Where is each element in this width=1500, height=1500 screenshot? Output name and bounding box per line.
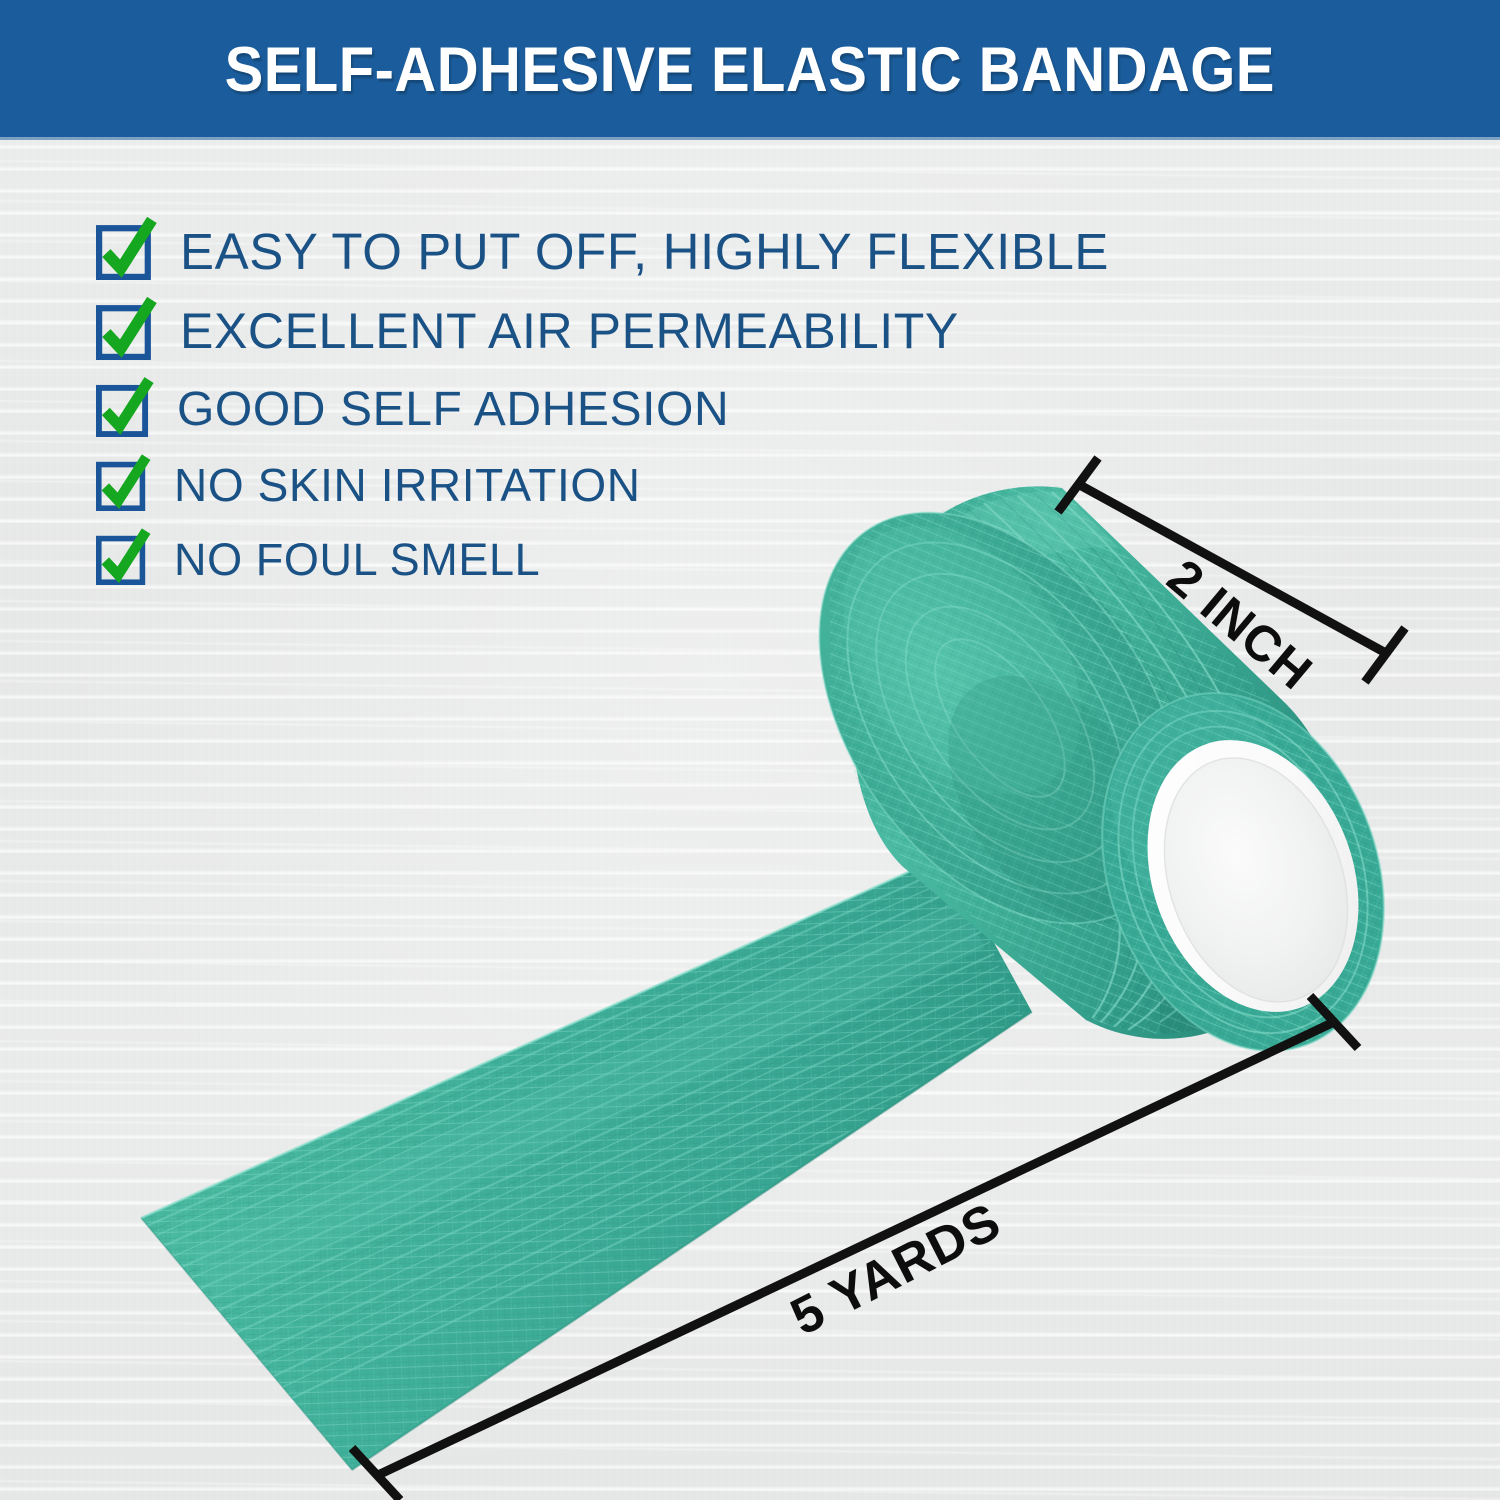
list-item-label: NO FOUL SMELL (174, 537, 540, 582)
checked-checkbox-icon (96, 222, 154, 280)
header-banner: SELF-ADHESIVE ELASTIC BANDAGE (0, 0, 1500, 137)
list-item: NO FOUL SMELL (96, 533, 1109, 585)
list-item-label: NO SKIN IRRITATION (174, 462, 641, 508)
list-item-label: GOOD SELF ADHESION (177, 386, 729, 434)
checked-checkbox-icon (96, 459, 148, 511)
checked-checkbox-icon (96, 382, 151, 437)
list-item: NO SKIN IRRITATION (96, 459, 1109, 511)
list-item: GOOD SELF ADHESION (96, 382, 1109, 437)
checked-checkbox-icon (96, 302, 154, 360)
product-infographic: SELF-ADHESIVE ELASTIC BANDAGE EASY TO PU… (0, 0, 1500, 1500)
list-item: EASY TO PUT OFF, HIGHLY FLEXIBLE (96, 222, 1109, 280)
checked-checkbox-icon (96, 533, 148, 585)
list-item-label: EASY TO PUT OFF, HIGHLY FLEXIBLE (180, 226, 1109, 277)
feature-list: EASY TO PUT OFF, HIGHLY FLEXIBLE EXCELLE… (96, 222, 1109, 607)
page-title: SELF-ADHESIVE ELASTIC BANDAGE (225, 39, 1275, 102)
list-item: EXCELLENT AIR PERMEABILITY (96, 302, 1109, 360)
list-item-label: EXCELLENT AIR PERMEABILITY (180, 306, 959, 356)
banner-underline (0, 137, 1500, 140)
bandage-strip (100, 820, 1090, 1500)
